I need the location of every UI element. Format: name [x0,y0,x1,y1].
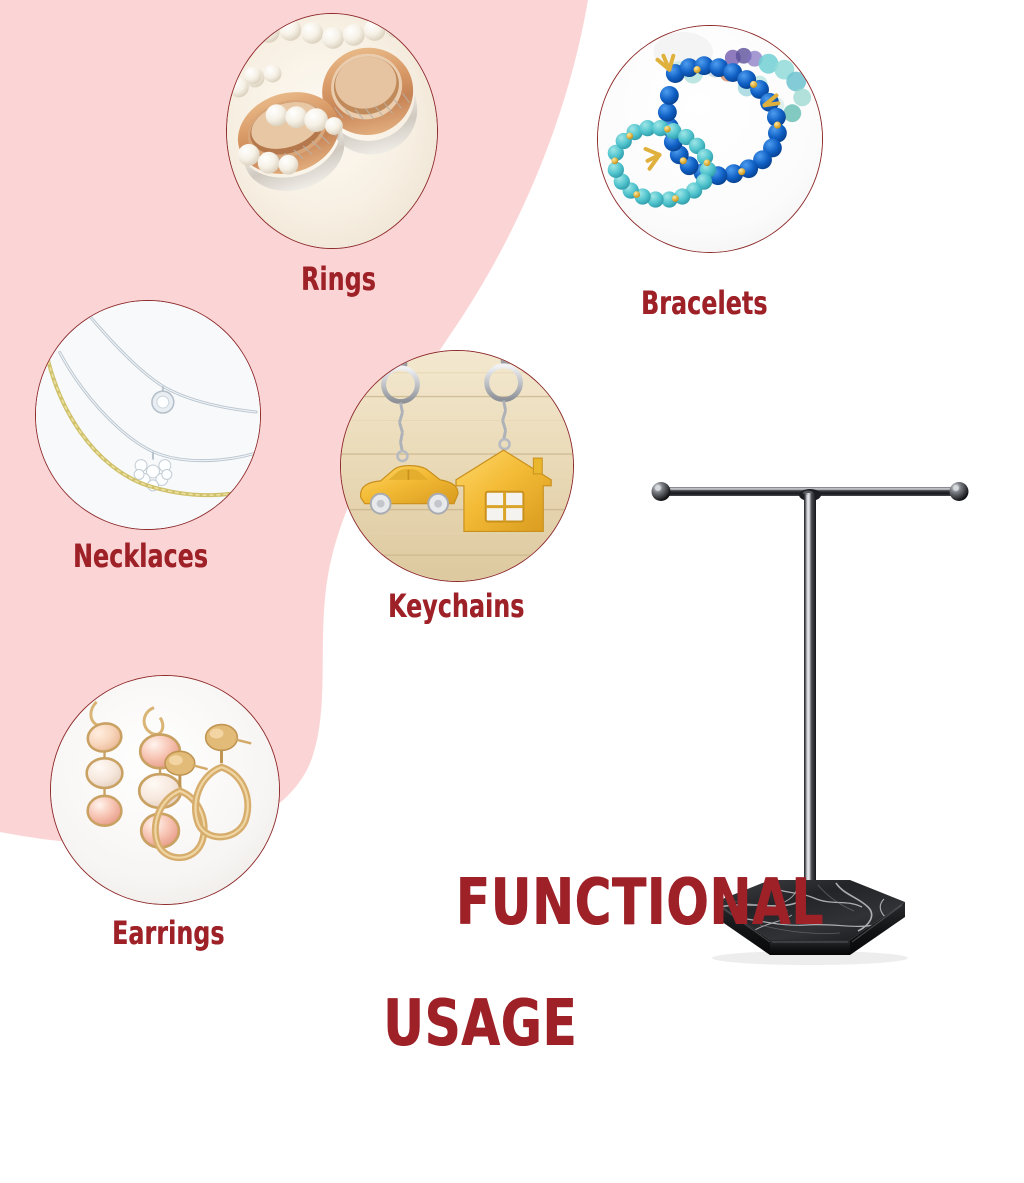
bracelets-photo [598,26,822,252]
page-title-line-1: FUNCTIONAL [456,866,824,940]
feature-label-bracelets: Bracelets [641,287,767,319]
necklaces-photo [36,301,260,529]
feature-label-keychains: Keychains [388,590,524,622]
necklaces-photo-circle[interactable] [35,300,261,530]
bracelets-photo-circle[interactable] [597,25,823,253]
feature-rings: Rings [226,13,438,313]
feature-keychains: Keychains [340,350,576,650]
feature-label-rings: Rings [301,263,376,295]
infographic-canvas: Rings [0,0,1024,1024]
earrings-photo [51,676,279,904]
feature-label-necklaces: Necklaces [73,540,208,572]
earrings-photo-circle[interactable] [50,675,280,905]
feature-bracelets: Bracelets [597,25,825,335]
feature-necklaces: Necklaces [35,300,265,600]
rings-photo [227,14,437,248]
page-title-line-2: USAGE [383,994,824,1055]
feature-earrings: Earrings [50,675,282,975]
page-title: FUNCTIONAL USAGE [383,812,824,1177]
keychains-photo-circle[interactable] [340,350,574,582]
keychains-photo [341,351,573,581]
rings-photo-circle[interactable] [226,13,438,249]
feature-label-earrings: Earrings [112,917,225,949]
